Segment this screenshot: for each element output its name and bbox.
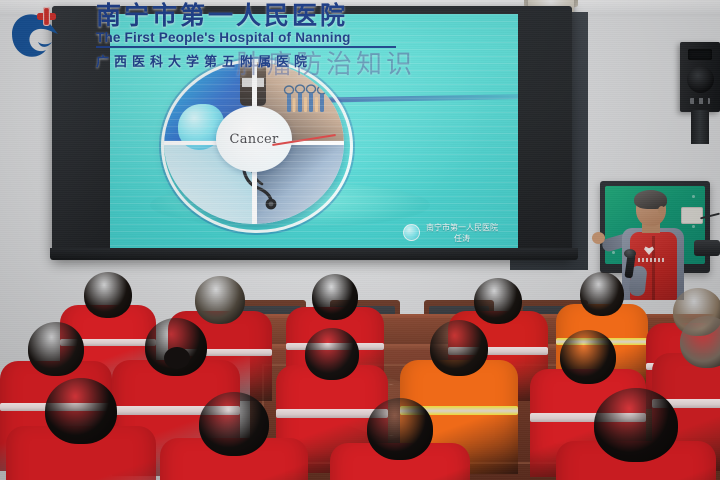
speaker-woofer-icon [687,66,714,93]
slide-pie-ring [161,59,353,233]
wall-mounted-loudspeaker [680,42,720,112]
hospital-brand-overlay: 南宁市第一人民医院 The First People's Hospital of… [8,2,408,76]
credit-organisation: 南宁市第一人民医院 [426,223,498,234]
credit-bullet-icon [403,224,420,241]
hospital-name-cn: 南宁市第一人民医院 [96,2,396,29]
hospital-affiliate-cn: 广西医科大学第五附属医院 [96,51,396,70]
attendee-head [580,272,624,316]
attendee-head [594,388,678,462]
attendee-head [195,276,245,324]
attendee-head [367,398,433,460]
nanning-first-hospital-logo [8,4,70,62]
brand-divider [96,46,396,48]
attendee-head [312,274,358,320]
projection-screen-bottom-bezel [50,248,578,260]
attendee-head [560,330,616,384]
credit-text: 南宁市第一人民医院 任涛 [426,223,498,245]
attendee-13 [6,378,156,480]
attendee-16 [556,388,716,480]
attendee-head [430,320,488,376]
attendee-head [45,378,117,444]
speaker-port-icon [690,98,710,104]
credit-presenter-name: 任涛 [426,234,498,245]
screenshot-root: Cancer 肿瘤防治知识 南宁市第一人民医院 任涛 [0,0,720,480]
slide-circular-graphic: Cancer [164,62,344,224]
speaker-tweeter-icon [688,49,712,60]
attendee-head [305,328,359,380]
hospital-brand-text: 南宁市第一人民医院 The First People's Hospital of… [96,2,396,70]
attendee-head [84,272,132,318]
hospital-name-en: The First People's Hospital of Nanning [96,30,396,45]
microphone-head-icon [624,249,636,258]
attendee-hair-bun [164,347,190,369]
attendee-14 [160,392,308,480]
attendee-head [28,322,84,376]
attendee-head [199,392,269,456]
slide-credit: 南宁市第一人民医院 任涛 [403,223,498,245]
attendee-head [474,278,522,324]
vest-logo-text [638,258,664,262]
speaker-mount-bracket [691,110,709,144]
attendee-head [680,316,720,368]
presenter-ear [658,206,665,215]
attendee-15 [330,398,470,480]
presenter-hand [592,232,605,244]
